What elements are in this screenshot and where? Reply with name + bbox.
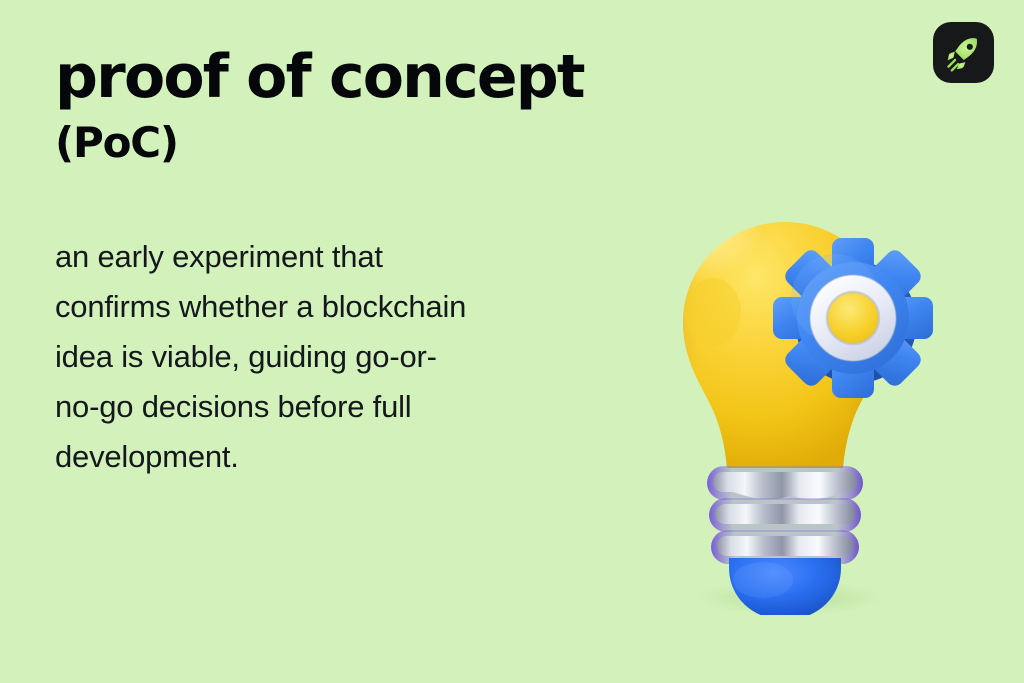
slide-canvas: proof of concept (PoC) an early experime… [0,0,1024,683]
page-title: proof of concept [55,42,675,112]
rocket-icon [943,32,985,74]
definition-line-1: an early experiment that [55,232,625,282]
definition-line-4: no-go decisions before full [55,382,625,432]
logo-badge[interactable] [933,22,994,83]
definition-line-5: development. [55,432,625,482]
definition-line-3: idea is viable, guiding go-or- [55,332,625,382]
heading-block: proof of concept (PoC) [55,42,675,170]
definition-line-2: confirms whether a blockchain [55,282,625,332]
screw-threads [707,466,863,564]
definition-text: an early experiment that confirms whethe… [55,232,625,482]
page-subtitle: (PoC) [55,116,675,170]
lightbulb-gear-illustration [655,200,985,615]
